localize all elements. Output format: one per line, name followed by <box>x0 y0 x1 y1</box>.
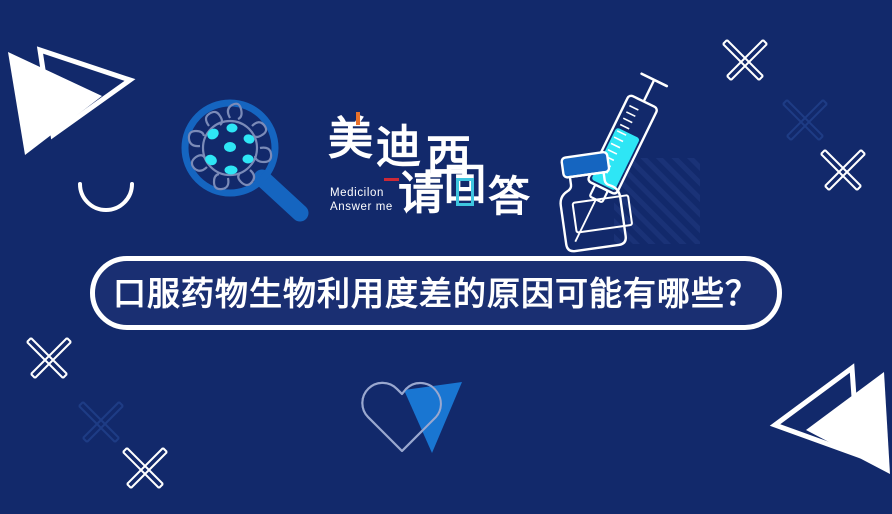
x-mark-top-right <box>723 40 767 80</box>
logo-glyph-mei: 美 <box>328 116 373 161</box>
logo-en-line1: Medicilon <box>330 186 393 200</box>
logo-accent-orange <box>356 112 360 125</box>
logo-accent-cyan <box>456 178 474 206</box>
x-mark-lower-right <box>821 150 865 190</box>
logo-en-line2: Answer me <box>330 200 393 214</box>
x-mark-left-mid-faint <box>79 402 123 442</box>
double-triangle-right <box>8 50 130 155</box>
x-mark-mid-right-faint <box>783 100 827 140</box>
magnifier-virus-icon <box>185 103 300 213</box>
logo-glyph-di: 迪 <box>376 124 421 169</box>
syringe-vial-icon <box>554 73 668 252</box>
logo-english-wordmark: Medicilon Answer me <box>330 186 393 214</box>
arc-u-shape <box>80 184 132 210</box>
heart-check-icon <box>362 382 462 453</box>
medicilon-logo: 美 迪 西 请 回 答 Medicilon Answer me <box>322 112 522 237</box>
logo-glyph-qing: 请 <box>398 170 444 216</box>
page-title: 口服药物生物利用度差的原因可能有哪些？ <box>113 277 759 310</box>
x-mark-left-lower <box>123 448 167 488</box>
hatch-lines-right <box>614 158 700 244</box>
banner-canvas: 美 迪 西 请 回 答 Medicilon Answer me 口服药物生物利用… <box>0 0 892 514</box>
logo-accent-red <box>384 178 399 181</box>
x-mark-left-upper <box>27 338 71 378</box>
question-title-pill: 口服药物生物利用度差的原因可能有哪些？ <box>90 256 782 330</box>
logo-glyph-da: 答 <box>488 176 530 218</box>
double-triangle-left <box>775 368 890 474</box>
